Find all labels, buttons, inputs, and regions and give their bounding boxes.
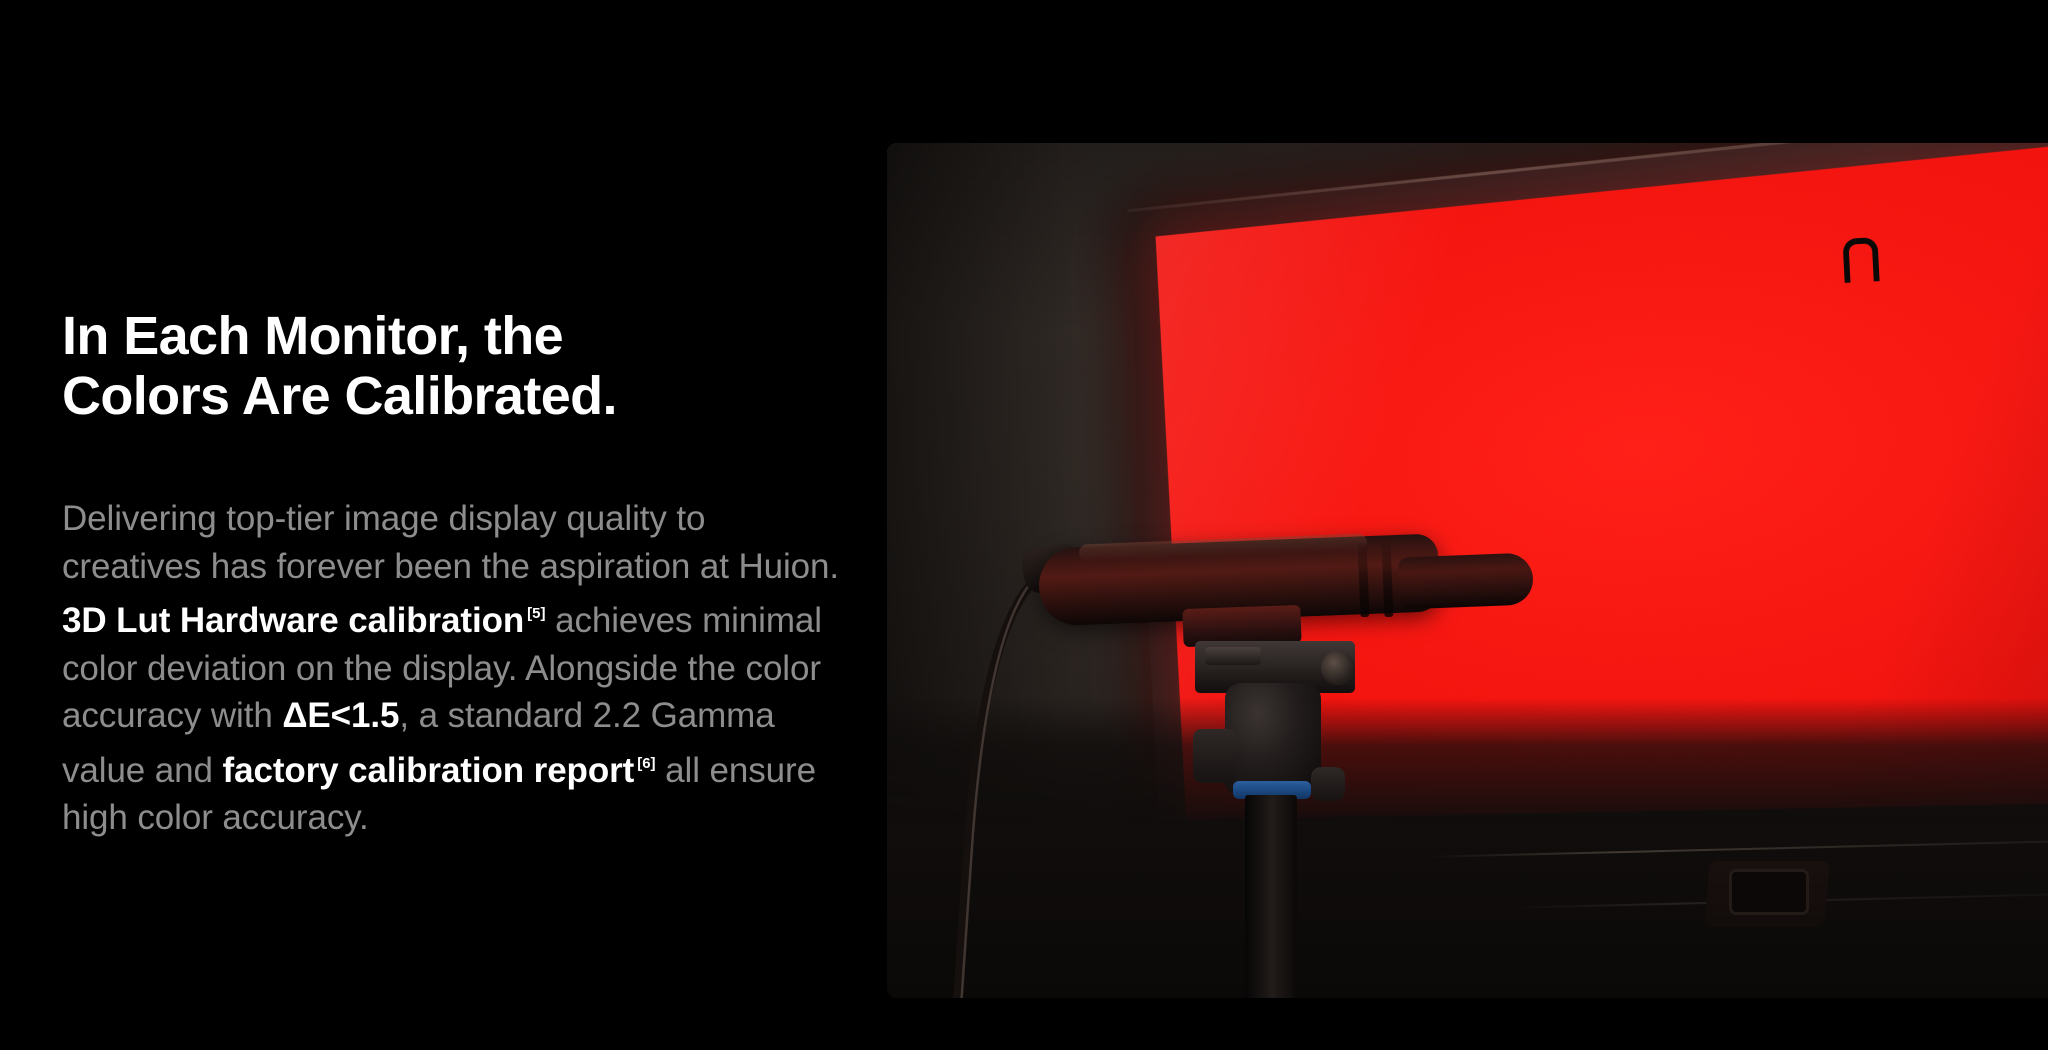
colorimeter-rig xyxy=(987,533,1607,998)
colorimeter-counterweight xyxy=(1398,552,1534,609)
page-root: In Each Monitor, the Colors Are Calibrat… xyxy=(0,0,2048,1050)
tripod-ball-head xyxy=(1225,683,1321,793)
body-highlight-delta-e: ΔE<1.5 xyxy=(282,696,399,735)
text-column: In Each Monitor, the Colors Are Calibrat… xyxy=(62,0,852,1050)
footnote-ref-5: [5] xyxy=(527,605,545,622)
body-highlight-calibration-report: factory calibration report xyxy=(223,751,635,790)
page-title: In Each Monitor, the Colors Are Calibrat… xyxy=(62,306,822,427)
body-paragraph: Delivering top-tier image display qualit… xyxy=(62,495,852,842)
footnote-ref-6: [6] xyxy=(637,755,655,772)
quick-release-screw xyxy=(1321,651,1355,685)
ball-head-pan-knob xyxy=(1311,767,1345,801)
monitor-stand-clip xyxy=(1729,869,1809,915)
ball-head-lock-knob xyxy=(1193,729,1237,783)
headline-line-1: In Each Monitor, the xyxy=(62,306,822,366)
screen-hook-icon xyxy=(1842,237,1879,283)
body-highlight-3d-lut: 3D Lut Hardware calibration xyxy=(62,601,524,640)
body-segment-1: Delivering top-tier image display qualit… xyxy=(62,499,839,586)
product-photo: HUION xyxy=(887,143,2048,998)
headline-line-2: Colors Are Calibrated. xyxy=(62,366,822,426)
quick-release-lever xyxy=(1205,647,1261,665)
tripod-center-column xyxy=(1245,795,1297,998)
